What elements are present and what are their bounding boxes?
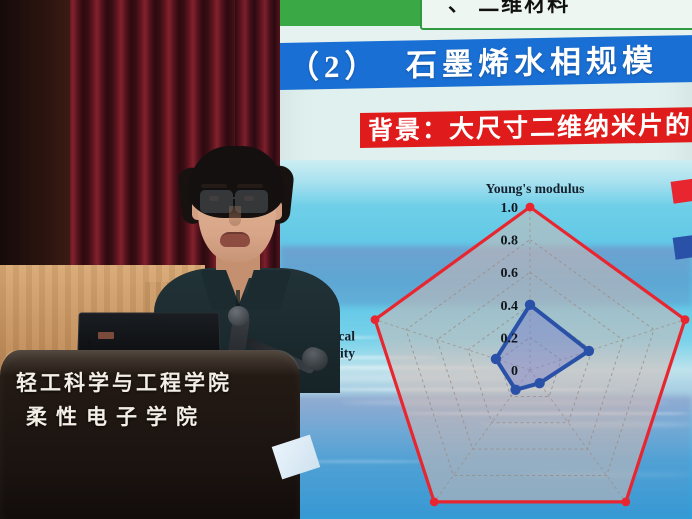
slide-background-banner-text: 背景：大尺寸二维纳米片的 (368, 109, 692, 148)
lectern-line-1: 轻工科学与工程学院 (16, 366, 286, 400)
slide-top-box-text: 、 二维材料 (448, 0, 688, 14)
radar-data-point (526, 203, 535, 212)
eyebrow-right (237, 184, 263, 188)
legend-swatch-red (671, 178, 692, 203)
lectern-institution-name: 轻工科学与工程学院 柔性电子学院 (16, 366, 286, 436)
slide-title-text: （2） 石墨烯水相规模 (288, 38, 692, 90)
radar-data-point (371, 315, 380, 324)
stage-curtain-shadow (0, 0, 70, 290)
radar-data-point (584, 346, 594, 356)
mouth (220, 232, 250, 247)
radar-tick-label: 0.8 (501, 234, 519, 249)
radar-data-point (491, 354, 501, 364)
radar-tick-label: 1.0 (501, 201, 519, 216)
laptop-logo (98, 332, 114, 339)
radar-data-point (430, 498, 439, 507)
nose (229, 206, 241, 226)
radar-tick-label: 0.4 (501, 299, 519, 314)
radar-tick-label: 0.6 (501, 266, 519, 281)
glasses-bridge (229, 197, 236, 199)
radar-axis-label: Young's modulus (486, 181, 585, 196)
slide-section-number: （2） (288, 48, 381, 85)
slide-green-bar (280, 0, 420, 26)
legend-swatch-blue (673, 234, 692, 259)
radar-data-point (681, 315, 690, 324)
screenshot-root: 、 二维材料 （2） 石墨烯水相规模 背景：大尺寸二维纳米片的 1.00.80.… (0, 0, 692, 519)
eyebrow-left (201, 184, 227, 188)
radar-data-point (510, 385, 520, 395)
lectern-line-2: 柔性电子学院 (16, 400, 286, 434)
radar-tick-label: 0 (511, 364, 518, 379)
radar-tick-label: 0.2 (501, 331, 519, 346)
radar-data-point (621, 498, 630, 507)
slide-title: 石墨烯水相规模 (406, 43, 658, 83)
radar-data-point (525, 300, 535, 310)
radar-data-point (534, 378, 544, 388)
